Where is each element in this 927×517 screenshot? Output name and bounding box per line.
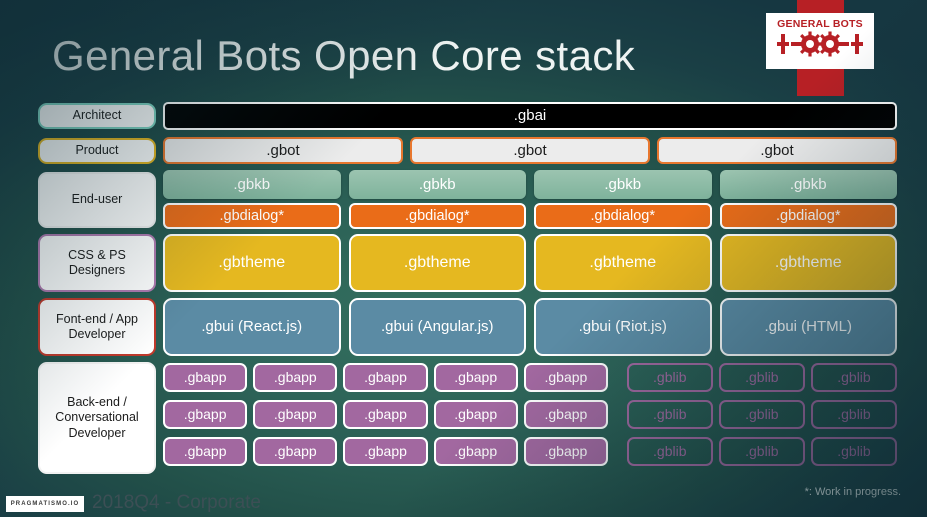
layer-gblib[interactable]: .gblib bbox=[719, 437, 805, 466]
page-title: General Bots Open Core stack bbox=[52, 32, 635, 80]
layer-gblib[interactable]: .gblib bbox=[627, 437, 713, 466]
layer-gbui-html[interactable]: .gbui (HTML) bbox=[720, 298, 898, 356]
layer-gbot[interactable]: .gbot bbox=[410, 137, 650, 164]
general-bots-logo: GENERAL BOTS bbox=[766, 13, 874, 69]
layer-row-gbui: .gbui (React.js) .gbui (Angular.js) .gbu… bbox=[163, 298, 897, 356]
layer-gbtheme[interactable]: .gbtheme bbox=[349, 234, 527, 292]
bottom-grid-row: .gbapp .gbapp .gbapp .gbapp .gbapp .gbli… bbox=[163, 363, 897, 392]
layer-gbkb[interactable]: .gbkb bbox=[163, 170, 341, 199]
layer-gbai[interactable]: .gbai bbox=[163, 102, 897, 130]
role-label-line-1: Font-end / AppDeveloper bbox=[56, 312, 138, 343]
layer-row-gbot: .gbot .gbot .gbot bbox=[163, 137, 897, 164]
layer-gbapp[interactable]: .gbapp bbox=[343, 437, 427, 466]
slide-canvas: GENERAL BOTS bbox=[0, 0, 927, 517]
role-label-end-user: End-user bbox=[38, 172, 156, 228]
layer-row-gbkb: .gbkb .gbkb .gbkb .gbkb bbox=[163, 170, 897, 199]
layer-gbdialog[interactable]: .gbdialog* bbox=[720, 203, 898, 229]
layer-gblib[interactable]: .gblib bbox=[627, 400, 713, 429]
layer-gbapp[interactable]: .gbapp bbox=[524, 437, 608, 466]
layer-gbtheme[interactable]: .gbtheme bbox=[534, 234, 712, 292]
general-bots-logo-text: GENERAL BOTS bbox=[777, 19, 863, 30]
layer-gbapp[interactable]: .gbapp bbox=[163, 363, 247, 392]
layer-gbui-riot[interactable]: .gbui (Riot.js) bbox=[534, 298, 712, 356]
role-label-line-1: Back-end /ConversationalDeveloper bbox=[55, 395, 138, 441]
grid-spacer bbox=[614, 400, 621, 429]
layer-row-gbtheme: .gbtheme .gbtheme .gbtheme .gbtheme bbox=[163, 234, 897, 292]
layer-gbot[interactable]: .gbot bbox=[163, 137, 403, 164]
layer-gblib[interactable]: .gblib bbox=[811, 400, 897, 429]
grid-spacer bbox=[614, 437, 621, 466]
role-label-line-1: CSS & PSDesigners bbox=[68, 248, 126, 279]
bottom-grid-row: .gbapp .gbapp .gbapp .gbapp .gbapp .gbli… bbox=[163, 437, 897, 466]
layer-gbkb[interactable]: .gbkb bbox=[534, 170, 712, 199]
layer-gbapp[interactable]: .gbapp bbox=[434, 363, 518, 392]
layer-gbtheme[interactable]: .gbtheme bbox=[163, 234, 341, 292]
layer-gbapp[interactable]: .gbapp bbox=[253, 363, 337, 392]
layer-gblib[interactable]: .gblib bbox=[719, 363, 805, 392]
layer-gblib[interactable]: .gblib bbox=[811, 437, 897, 466]
grid-spacer bbox=[614, 363, 621, 392]
layer-gbkb[interactable]: .gbkb bbox=[349, 170, 527, 199]
layer-gblib[interactable]: .gblib bbox=[719, 400, 805, 429]
layer-gbapp[interactable]: .gbapp bbox=[163, 400, 247, 429]
gears-logo-icon bbox=[777, 30, 863, 63]
role-label-frontend-app-developer: Font-end / AppDeveloper bbox=[38, 298, 156, 356]
bottom-grid-row: .gbapp .gbapp .gbapp .gbapp .gbapp .gbli… bbox=[163, 400, 897, 429]
footnote-work-in-progress: *: Work in progress. bbox=[805, 486, 901, 498]
layer-gbui-angular[interactable]: .gbui (Angular.js) bbox=[349, 298, 527, 356]
pragmatismo-logo: PRAGMATISMO.IO bbox=[6, 496, 84, 512]
layer-gbapp[interactable]: .gbapp bbox=[253, 400, 337, 429]
role-label-css-ps-designers: CSS & PSDesigners bbox=[38, 234, 156, 292]
layer-gblib[interactable]: .gblib bbox=[627, 363, 713, 392]
layer-gbapp[interactable]: .gbapp bbox=[343, 363, 427, 392]
layer-gbdialog[interactable]: .gbdialog* bbox=[534, 203, 712, 229]
layer-gbot[interactable]: .gbot bbox=[657, 137, 897, 164]
layer-gbapp[interactable]: .gbapp bbox=[163, 437, 247, 466]
layer-gblib[interactable]: .gblib bbox=[811, 363, 897, 392]
layer-gbapp[interactable]: .gbapp bbox=[434, 400, 518, 429]
layer-gbdialog[interactable]: .gbdialog* bbox=[163, 203, 341, 229]
layer-gbapp[interactable]: .gbapp bbox=[343, 400, 427, 429]
layer-gbkb[interactable]: .gbkb bbox=[720, 170, 898, 199]
role-label-architect: Architect bbox=[38, 103, 156, 129]
footer-label: 2018Q4 - Corporate bbox=[92, 492, 261, 514]
role-label-backend-conversational-developer: Back-end /ConversationalDeveloper bbox=[38, 362, 156, 474]
layer-gbtheme[interactable]: .gbtheme bbox=[720, 234, 898, 292]
layer-gbapp[interactable]: .gbapp bbox=[434, 437, 518, 466]
layer-gbapp[interactable]: .gbapp bbox=[524, 400, 608, 429]
layer-gbdialog[interactable]: .gbdialog* bbox=[349, 203, 527, 229]
pragmatismo-logo-text: PRAGMATISMO.IO bbox=[11, 501, 80, 507]
layer-gbapp[interactable]: .gbapp bbox=[253, 437, 337, 466]
bottom-grid: .gbapp .gbapp .gbapp .gbapp .gbapp .gbli… bbox=[163, 363, 897, 466]
layer-row-gbdialog: .gbdialog* .gbdialog* .gbdialog* .gbdial… bbox=[163, 203, 897, 229]
layer-gbapp[interactable]: .gbapp bbox=[524, 363, 608, 392]
layer-gbui-react[interactable]: .gbui (React.js) bbox=[163, 298, 341, 356]
role-label-product: Product bbox=[38, 138, 156, 164]
